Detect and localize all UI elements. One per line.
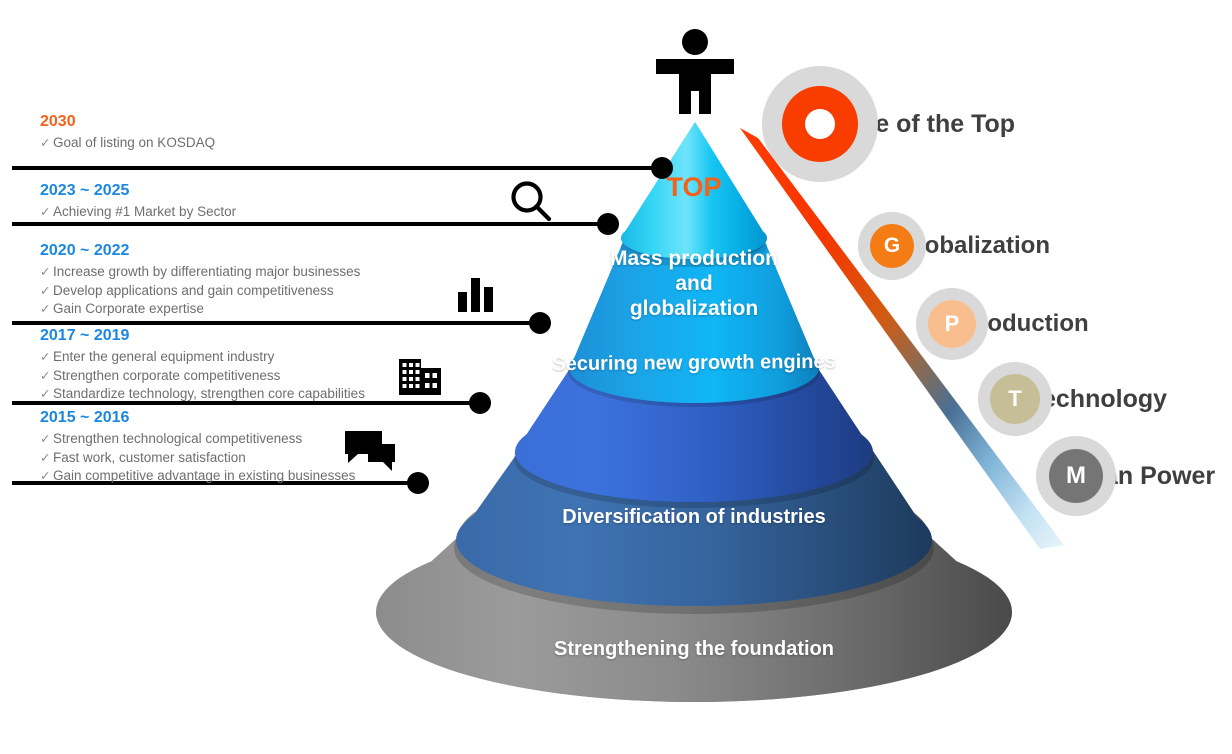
ring-hole [805,109,835,139]
timeline-entry-2023-2025: 2023 ~ 2025 ✓Achieving #1 Market by Sect… [40,182,236,222]
list-item: ✓Strengthen corporate competitiveness [40,367,365,386]
timeline-entry-2015-2016: 2015 ~ 2016 ✓Strengthen technological co… [40,409,355,486]
acronym-label-technology: echnology [1042,385,1167,414]
timeline-year-2015-2016: 2015 ~ 2016 [40,409,355,427]
list-item: ✓Increase growth by differentiating majo… [40,263,360,282]
check-icon: ✓ [40,204,53,222]
list-item: ✓Enter the general equipment industry [40,348,365,367]
acronym-letter-circle-t: T [990,374,1040,424]
check-icon: ✓ [40,368,53,386]
acronym-halo: M [1036,436,1116,516]
list-item: ✓Gain competitive advantage in existing … [40,467,355,486]
acronym-label-globalization: lobalization [918,232,1050,260]
acronym-label-one-of-the-top: ne of the Top [860,110,1015,139]
check-icon: ✓ [40,450,53,468]
acronym-label-production: roduction [978,310,1089,338]
timeline-rule-3 [12,321,540,325]
check-icon: ✓ [40,301,53,319]
acronym-halo [762,66,878,182]
list-item: ✓Strengthen technological competitivenes… [40,430,355,449]
acronym-letter-circle-p: P [928,300,976,348]
acronym-letter-circle-m: M [1049,449,1103,503]
check-icon: ✓ [40,264,53,282]
timeline-items-2017-2019: ✓Enter the general equipment industry ✓S… [40,348,365,404]
timeline-items-2023-2025: ✓Achieving #1 Market by Sector [40,203,236,222]
timeline-items-2020-2022: ✓Increase growth by differentiating majo… [40,263,360,319]
timeline-dot-4 [469,392,491,414]
check-icon: ✓ [40,135,53,153]
timeline-year-2023-2025: 2023 ~ 2025 [40,182,236,200]
list-item: ✓Goal of listing on KOSDAQ [40,134,215,153]
search-icon [508,178,554,224]
check-icon: ✓ [40,431,53,449]
list-item: ✓Develop applications and gain competiti… [40,282,360,301]
chat-icon [344,430,396,472]
acronym-item-man-power[interactable]: M an Power [1036,436,1215,516]
check-icon: ✓ [40,386,53,404]
timeline-dot-5 [407,472,429,494]
check-icon: ✓ [40,283,53,301]
infographic-canvas: TOP Mass production and globalization Se… [0,0,1232,754]
check-icon: ✓ [40,468,53,486]
acronym-letter-circle-o [782,86,858,162]
acronym-label-man-power: an Power [1104,462,1215,491]
list-item: ✓Standardize technology, strengthen core… [40,385,365,404]
timeline-entry-2017-2019: 2017 ~ 2019 ✓Enter the general equipment… [40,327,365,404]
acronym-letter-circle-g: G [870,224,914,268]
timeline-entry-2020-2022: 2020 ~ 2022 ✓Increase growth by differen… [40,242,360,319]
timeline-dot-1 [651,157,673,179]
timeline-items-2015-2016: ✓Strengthen technological competitivenes… [40,430,355,486]
list-item: ✓Achieving #1 Market by Sector [40,203,236,222]
timeline-year-2020-2022: 2020 ~ 2022 [40,242,360,260]
pyramid-layer-top [621,122,767,267]
acronym-halo: T [978,362,1052,436]
list-item: ✓Gain Corporate expertise [40,300,360,319]
acronym-halo: P [916,288,988,360]
acronym-item-one-of-the-top[interactable]: ne of the Top [762,66,1015,182]
bar-chart-icon [456,276,496,312]
timeline-items-2030: ✓Goal of listing on KOSDAQ [40,134,215,153]
building-icon [398,358,442,396]
check-icon: ✓ [40,349,53,367]
timeline-year-2017-2019: 2017 ~ 2019 [40,327,365,345]
acronym-item-globalization[interactable]: G lobalization [858,212,1050,280]
timeline-year-2030: 2030 [40,113,215,131]
list-item: ✓Fast work, customer satisfaction [40,449,355,468]
timeline-entry-2030: 2030 ✓Goal of listing on KOSDAQ [40,113,215,153]
acronym-item-technology[interactable]: T echnology [978,362,1167,436]
timeline-rule-1 [12,166,662,170]
timeline-dot-3 [529,312,551,334]
timeline-dot-2 [597,213,619,235]
acronym-halo: G [858,212,926,280]
acronym-item-production[interactable]: P roduction [916,288,1089,360]
accessibility-person-icon [654,28,736,114]
